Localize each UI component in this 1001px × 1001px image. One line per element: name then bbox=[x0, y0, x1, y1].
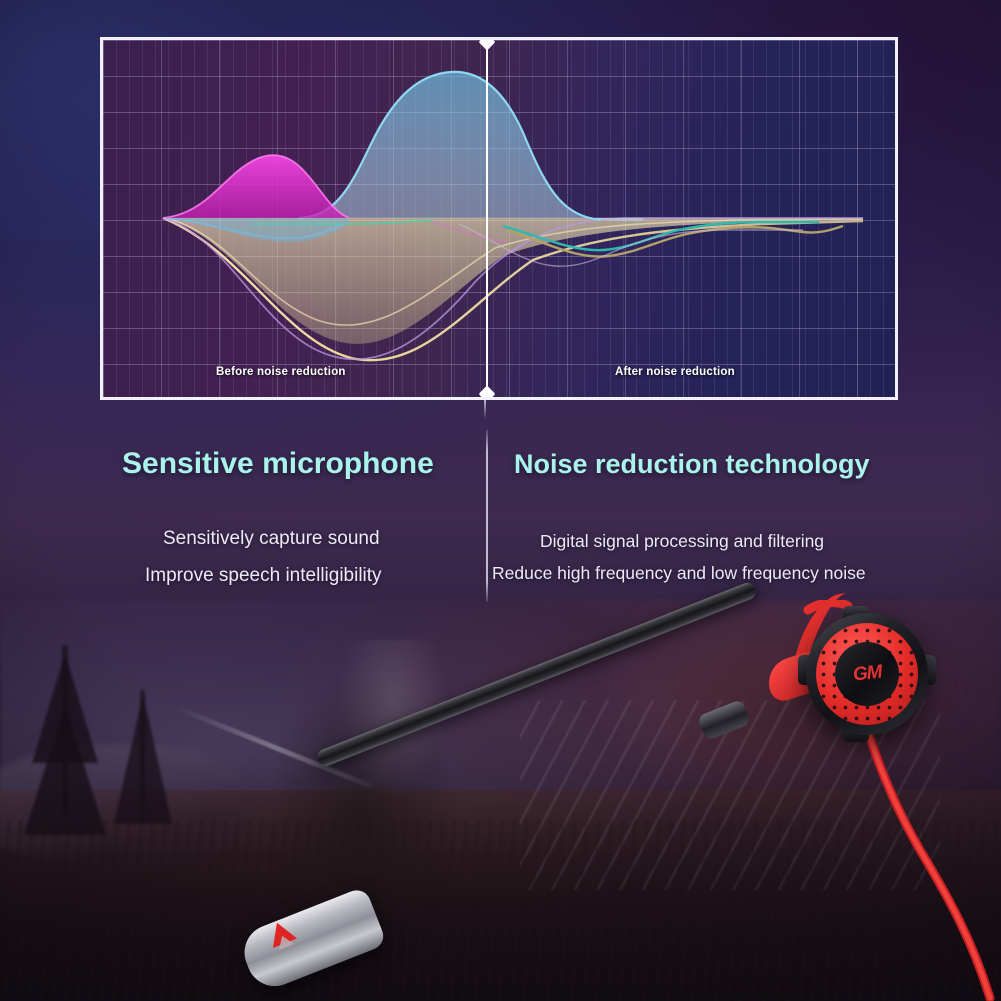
left-body-line-2: Improve speech intelligibility bbox=[145, 565, 382, 587]
waveform-curves bbox=[103, 40, 895, 397]
headline-sensitive-microphone: Sensitive microphone bbox=[122, 447, 434, 481]
chart-label-before: Before noise reduction bbox=[216, 366, 346, 378]
banner-stage: Before noise reduction After noise reduc… bbox=[0, 0, 1001, 1001]
column-divider bbox=[486, 430, 488, 602]
right-body-line-2: Reduce high frequency and low frequency … bbox=[492, 563, 866, 584]
spectrum-chart-panel: Before noise reduction After noise reduc… bbox=[100, 37, 898, 400]
chart-label-after: After noise reduction bbox=[615, 366, 735, 378]
before-after-divider bbox=[486, 40, 488, 397]
right-body-line-1: Digital signal processing and filtering bbox=[540, 531, 824, 552]
divider-tail bbox=[484, 400, 486, 420]
left-body-line-1: Sensitively capture sound bbox=[163, 528, 380, 550]
headline-noise-reduction-technology: Noise reduction technology bbox=[514, 449, 870, 480]
